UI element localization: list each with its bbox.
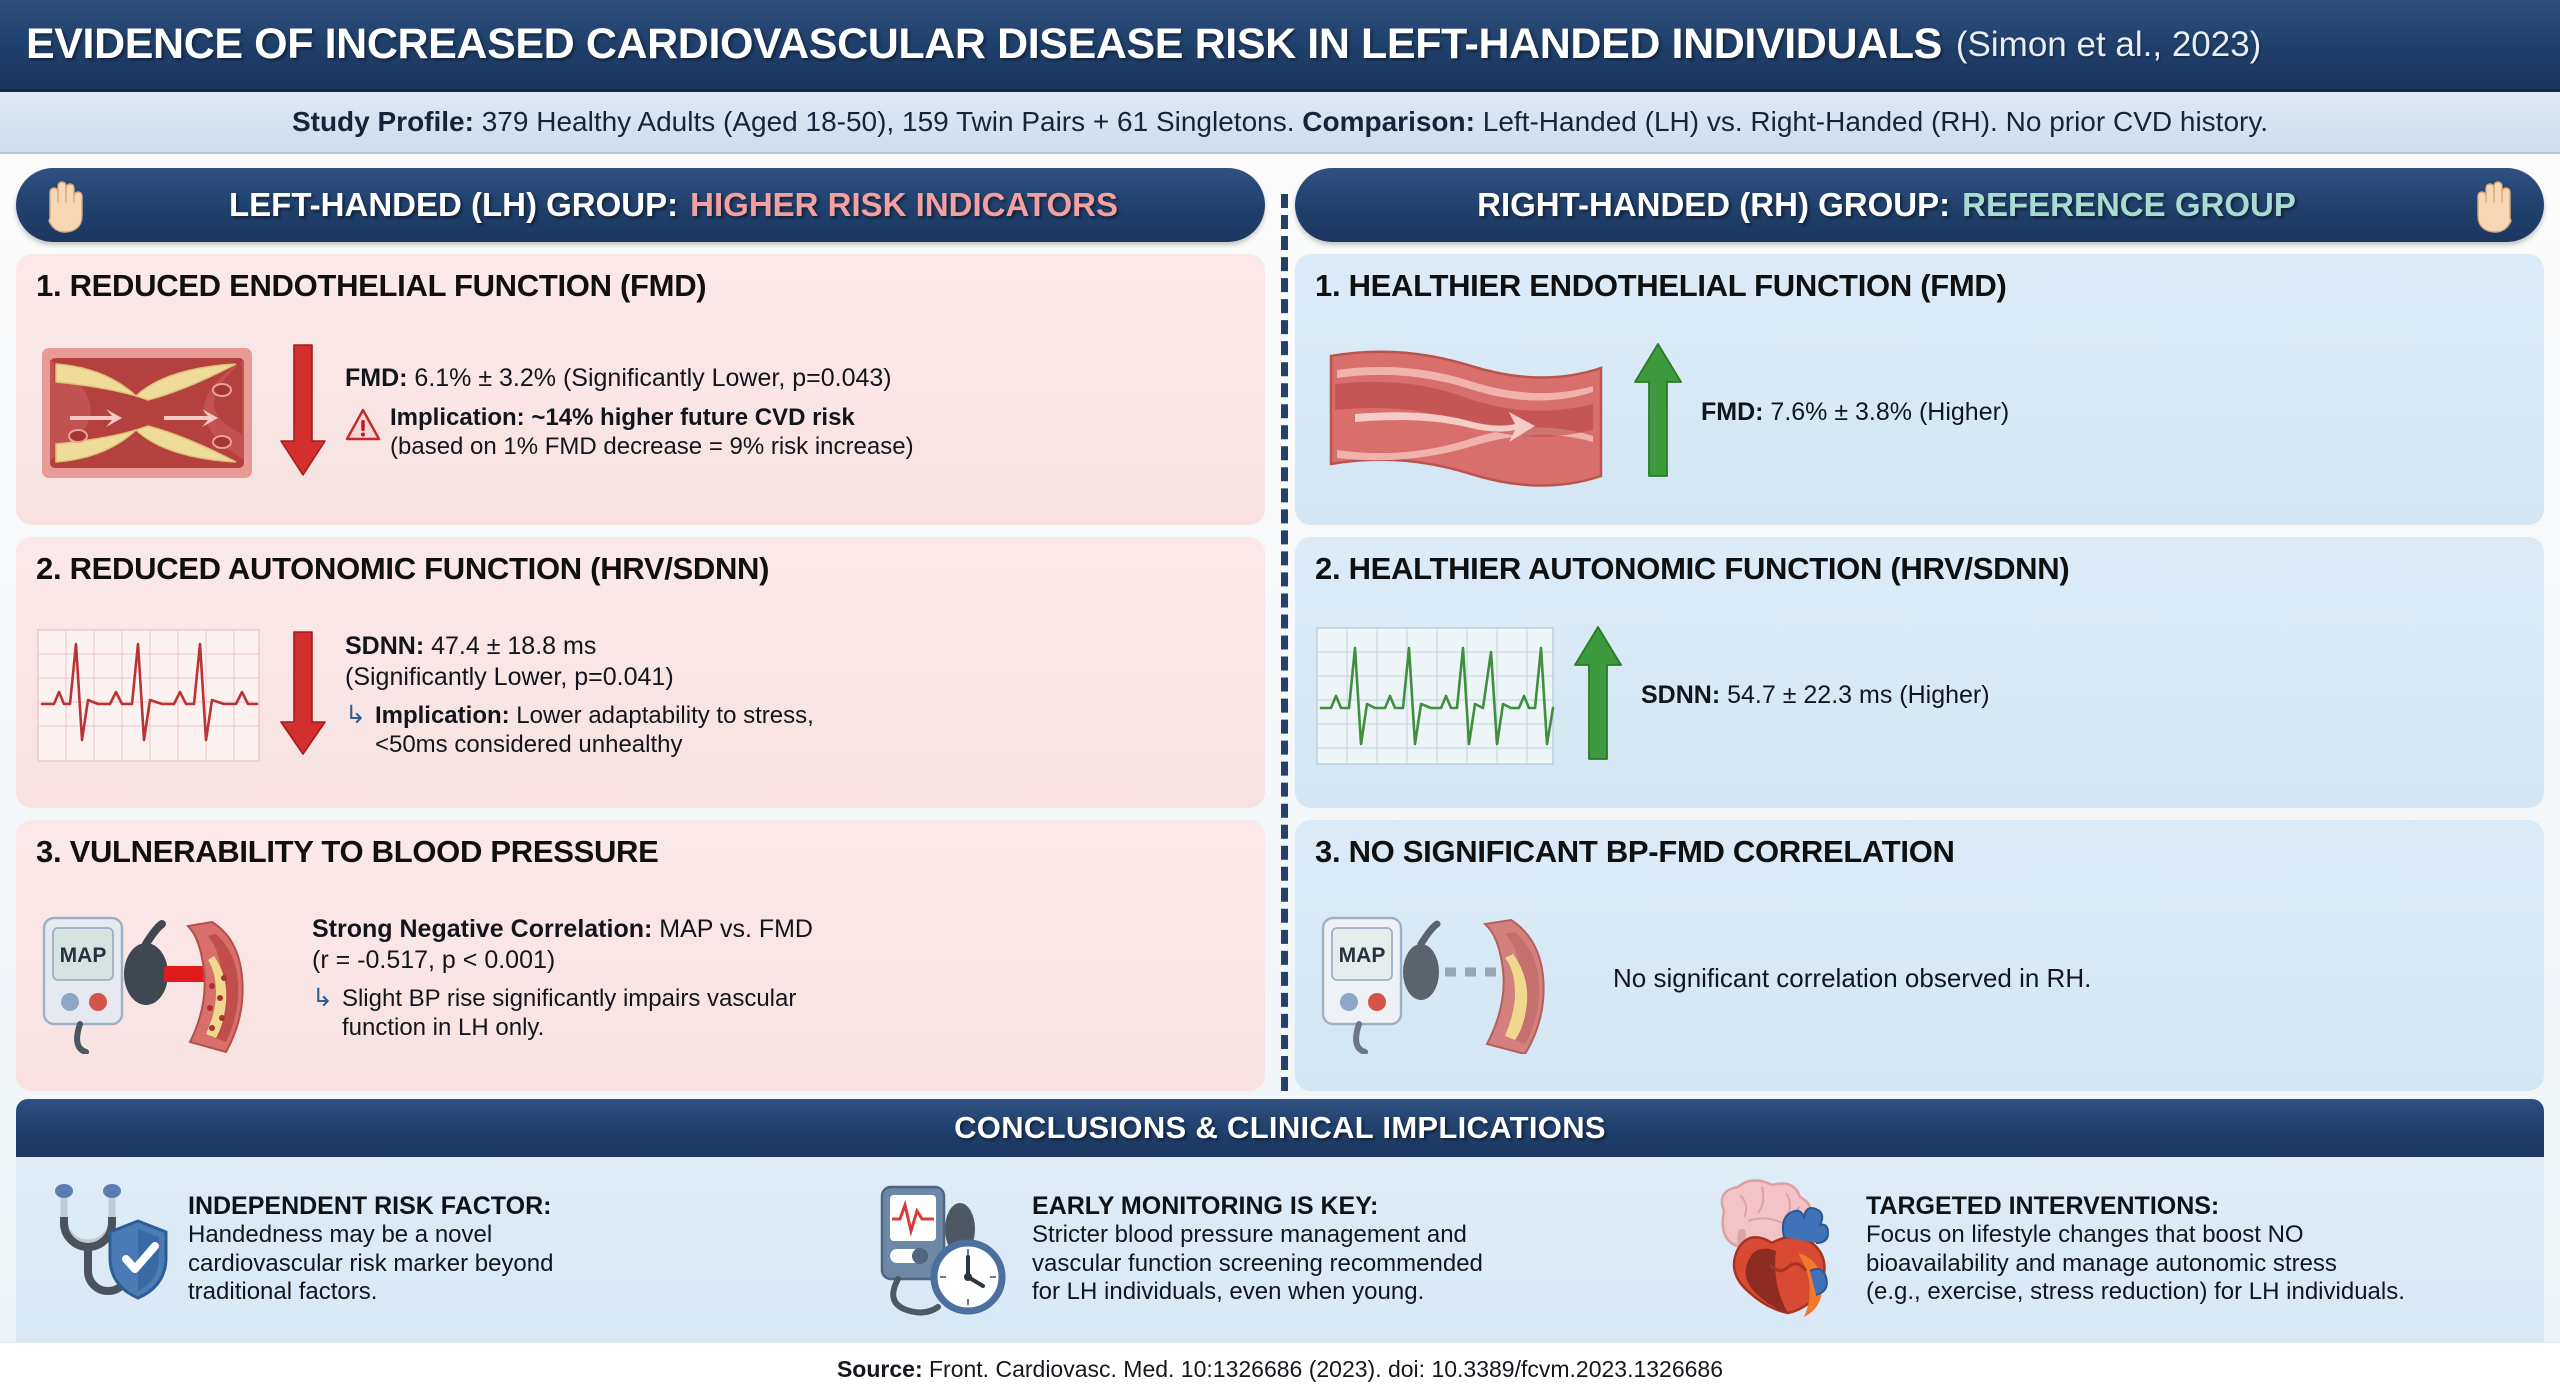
lh-fmd-impl-note: (based on 1% FMD decrease = 9% risk incr… xyxy=(390,433,914,462)
conclusion-3-line2: bioavailability and manage autonomic str… xyxy=(1866,1250,2405,1279)
healthy-open-artery-illustration xyxy=(1315,338,1615,488)
lh-sdnn-impl-note: <50ms considered unhealthy xyxy=(375,731,814,760)
up-arrow-icon xyxy=(1631,340,1685,485)
conclusion-1-line2: cardiovascular risk marker beyond xyxy=(188,1250,553,1279)
rh-card-1-body: FMD: 7.6% ± 3.8% (Higher) xyxy=(1315,310,2524,515)
lh-group-header: LEFT-HANDED (LH) GROUP: HIGHER RISK INDI… xyxy=(16,168,1265,242)
sub-arrow-icon: ↳ xyxy=(345,702,366,730)
rh-card-3-title: 3. NO SIGNIFICANT BP-FMD CORRELATION xyxy=(1315,834,2524,870)
page-title: EVIDENCE OF INCREASED CARDIOVASCULAR DIS… xyxy=(26,20,1942,69)
lh-card-2-body: SDNN: 47.4 ± 18.8 ms (Significantly Lowe… xyxy=(36,593,1245,798)
lh-sdnn-implication-row: ↳ Implication: Lower adaptability to str… xyxy=(345,702,1245,760)
rh-card-3-text: No significant correlation observed in R… xyxy=(1613,963,2524,994)
lh-corr-stat-label: Strong Negative Correlation: xyxy=(312,915,652,943)
conclusion-1-heading: INDEPENDENT RISK FACTOR: xyxy=(188,1192,553,1221)
warning-triangle-icon xyxy=(345,408,381,442)
lh-corr-impl-value: Slight BP rise significantly impairs vas… xyxy=(342,985,796,1014)
conclusion-1-line1: Handedness may be a novel xyxy=(188,1221,553,1250)
lh-card-3-title: 3. VULNERABILITY TO BLOOD PRESSURE xyxy=(36,834,1245,870)
lh-corr-stat: Strong Negative Correlation: MAP vs. FMD xyxy=(312,914,1245,945)
lh-sdnn-impl-label: Implication: xyxy=(375,702,510,729)
conclusion-3-line3: (e.g., exercise, stress reduction) for L… xyxy=(1866,1278,2405,1307)
lh-corr-impl-note: function in LH only. xyxy=(342,1014,796,1043)
conclusion-item-early-monitoring: EARLY MONITORING IS KEY: Stricter blood … xyxy=(868,1177,1692,1322)
rh-card-hrv: 2. HEALTHIER AUTONOMIC FUNCTION (HRV/SDN… xyxy=(1295,537,2544,808)
rh-sdnn-stat-value: 54.7 ± 22.3 ms (Higher) xyxy=(1720,681,1989,709)
rh-header-text-group: RIGHT-HANDED (RH) GROUP: REFERENCE GROUP xyxy=(1319,186,2454,224)
lh-sdnn-stat-note: (Significantly Lower, p=0.041) xyxy=(345,662,1245,693)
lh-card-hrv: 2. REDUCED AUTONOMIC FUNCTION (HRV/SDNN) xyxy=(16,537,1265,808)
lh-card-1-title: 1. REDUCED ENDOTHELIAL FUNCTION (FMD) xyxy=(36,268,1245,304)
lh-fmd-implication-text: Implication: ~14% higher future CVD risk… xyxy=(390,404,914,462)
left-handed-column: LEFT-HANDED (LH) GROUP: HIGHER RISK INDI… xyxy=(16,168,1265,1091)
rh-fmd-stat-value: 7.6% ± 3.8% (Higher) xyxy=(1763,398,2009,426)
study-profile-text: Study Profile: 379 Healthy Adults (Aged … xyxy=(292,106,2268,138)
conclusions-banner-label: CONCLUSIONS & CLINICAL IMPLICATIONS xyxy=(954,1110,1606,1146)
brain-heart-icon xyxy=(1702,1177,1852,1322)
lh-card-2-title: 2. REDUCED AUTONOMIC FUNCTION (HRV/SDNN) xyxy=(36,551,1245,587)
conclusion-2-line1: Stricter blood pressure management and xyxy=(1032,1221,1483,1250)
comparison-value: Left-Handed (LH) vs. Right-Handed (RH). … xyxy=(1475,106,2268,137)
source-label: Source: xyxy=(837,1356,923,1382)
lh-fmd-stat-value: 6.1% ± 3.2% (Significantly Lower, p=0.04… xyxy=(407,364,891,392)
rh-group-header: RIGHT-HANDED (RH) GROUP: REFERENCE GROUP xyxy=(1295,168,2544,242)
raised-hand-icon xyxy=(40,176,92,234)
rh-no-correlation-note: No significant correlation observed in R… xyxy=(1613,963,2524,994)
source-text: Source: Front. Cardiovasc. Med. 10:13266… xyxy=(837,1356,1723,1383)
lh-header-text-group: LEFT-HANDED (LH) GROUP: HIGHER RISK INDI… xyxy=(106,186,1241,224)
lh-sdnn-stat: SDNN: 47.4 ± 18.8 ms xyxy=(345,631,1245,662)
conclusion-2-line2: vascular function screening recommended xyxy=(1032,1250,1483,1279)
lh-card-1-text: FMD: 6.1% ± 3.2% (Significantly Lower, p… xyxy=(345,363,1245,461)
conclusion-1-line3: traditional factors. xyxy=(188,1278,553,1307)
study-profile-label: Study Profile: xyxy=(292,106,474,137)
comparison-columns: LEFT-HANDED (LH) GROUP: HIGHER RISK INDI… xyxy=(0,154,2560,1097)
lh-sdnn-implication-text: Implication: Lower adaptability to stres… xyxy=(375,702,814,760)
lh-corr-implication-text: Slight BP rise significantly impairs vas… xyxy=(342,985,796,1043)
bp-monitor-clock-icon xyxy=(868,1177,1018,1322)
lh-sdnn-impl-value: Lower adaptability to stress, xyxy=(510,702,814,729)
rh-card-1-text: FMD: 7.6% ± 3.8% (Higher) xyxy=(1701,397,2524,428)
lh-corr-implication-row: ↳ Slight BP rise significantly impairs v… xyxy=(312,985,1245,1043)
rh-card-1-title: 1. HEALTHIER ENDOTHELIAL FUNCTION (FMD) xyxy=(1315,268,2524,304)
lh-card-1-body: FMD: 6.1% ± 3.2% (Significantly Lower, p… xyxy=(36,310,1245,515)
rh-card-bp: 3. NO SIGNIFICANT BP-FMD CORRELATION MAP xyxy=(1295,820,2544,1091)
lh-fmd-impl-label: Implication: xyxy=(390,404,525,431)
conclusions-body: INDEPENDENT RISK FACTOR: Handedness may … xyxy=(16,1157,2544,1342)
bp-monitor-and-artery-illustration: MAP xyxy=(36,904,296,1054)
lh-card-3-body: MAP xyxy=(36,876,1245,1081)
rh-group-label: RIGHT-HANDED (RH) GROUP: xyxy=(1477,186,1950,224)
lh-corr-stat-value: MAP vs. FMD xyxy=(652,915,813,943)
sub-arrow-icon: ↳ xyxy=(312,985,333,1013)
svg-text:MAP: MAP xyxy=(60,944,107,967)
right-handed-column: RIGHT-HANDED (RH) GROUP: REFERENCE GROUP… xyxy=(1295,168,2544,1091)
comparison-label: Comparison: xyxy=(1302,106,1475,137)
lh-fmd-implication-row: Implication: ~14% higher future CVD risk… xyxy=(345,404,1245,462)
infographic-poster: EVIDENCE OF INCREASED CARDIOVASCULAR DIS… xyxy=(0,0,2560,1396)
rh-sdnn-stat: SDNN: 54.7 ± 22.3 ms (Higher) xyxy=(1641,680,2524,711)
stethoscope-shield-check-icon xyxy=(34,1177,174,1322)
down-arrow-icon xyxy=(277,341,329,484)
rh-card-3-body: MAP No significant xyxy=(1315,876,2524,1081)
conclusion-3-line1: Focus on lifestyle changes that boost NO xyxy=(1866,1221,2405,1250)
lh-group-accent: HIGHER RISK INDICATORS xyxy=(690,186,1118,224)
source-value: Front. Cardiovasc. Med. 10:1326686 (2023… xyxy=(923,1356,1723,1382)
study-profile-value: 379 Healthy Adults (Aged 18-50), 159 Twi… xyxy=(474,106,1302,137)
raised-hand-icon xyxy=(2468,176,2520,234)
conclusions-banner: CONCLUSIONS & CLINICAL IMPLICATIONS xyxy=(16,1099,2544,1157)
conclusion-item-independent-risk: INDEPENDENT RISK FACTOR: Handedness may … xyxy=(34,1177,858,1322)
rh-card-2-title: 2. HEALTHIER AUTONOMIC FUNCTION (HRV/SDN… xyxy=(1315,551,2524,587)
lh-corr-stat-note: (r = -0.517, p < 0.001) xyxy=(312,945,1245,976)
down-arrow-icon xyxy=(277,628,329,763)
lh-fmd-stat-label: FMD: xyxy=(345,364,407,392)
rh-group-accent: REFERENCE GROUP xyxy=(1962,186,2296,224)
conclusion-2-text: EARLY MONITORING IS KEY: Stricter blood … xyxy=(1032,1192,1483,1307)
conclusion-2-heading: EARLY MONITORING IS KEY: xyxy=(1032,1192,1483,1221)
lh-sdnn-stat-value: 47.4 ± 18.8 ms xyxy=(424,632,596,660)
title-citation: (Simon et al., 2023) xyxy=(1956,25,2261,65)
rh-card-fmd: 1. HEALTHIER ENDOTHELIAL FUNCTION (FMD) xyxy=(1295,254,2544,525)
svg-text:MAP: MAP xyxy=(1339,944,1386,967)
lh-card-fmd: 1. REDUCED ENDOTHELIAL FUNCTION (FMD) xyxy=(16,254,1265,525)
ecg-waveform-red-illustration xyxy=(36,628,261,763)
rh-card-2-text: SDNN: 54.7 ± 22.3 ms (Higher) xyxy=(1641,680,2524,711)
conclusion-2-line3: for LH individuals, even when young. xyxy=(1032,1278,1483,1307)
conclusion-3-text: TARGETED INTERVENTIONS: Focus on lifesty… xyxy=(1866,1192,2405,1307)
narrowed-artery-plaque-illustration xyxy=(36,338,261,488)
rh-fmd-stat-label: FMD: xyxy=(1701,398,1763,426)
lh-card-3-text: Strong Negative Correlation: MAP vs. FMD… xyxy=(312,914,1245,1043)
conclusion-item-targeted-interventions: TARGETED INTERVENTIONS: Focus on lifesty… xyxy=(1702,1177,2526,1322)
conclusion-3-heading: TARGETED INTERVENTIONS: xyxy=(1866,1192,2405,1221)
lh-sdnn-stat-label: SDNN: xyxy=(345,632,424,660)
conclusion-1-text: INDEPENDENT RISK FACTOR: Handedness may … xyxy=(188,1192,553,1307)
poster-title-bar: EVIDENCE OF INCREASED CARDIOVASCULAR DIS… xyxy=(0,0,2560,92)
source-footer: Source: Front. Cardiovasc. Med. 10:13266… xyxy=(0,1342,2560,1396)
rh-card-2-body: SDNN: 54.7 ± 22.3 ms (Higher) xyxy=(1315,593,2524,798)
up-arrow-icon xyxy=(1571,623,1625,768)
bp-monitor-dashed-link-artery-illustration: MAP xyxy=(1315,904,1595,1054)
rh-sdnn-stat-label: SDNN: xyxy=(1641,681,1720,709)
ecg-waveform-green-illustration xyxy=(1315,626,1555,766)
lh-fmd-impl-value: ~14% higher future CVD risk xyxy=(525,404,855,431)
lh-card-bp: 3. VULNERABILITY TO BLOOD PRESSURE MAP xyxy=(16,820,1265,1091)
lh-group-label: LEFT-HANDED (LH) GROUP: xyxy=(229,186,678,224)
study-profile-bar: Study Profile: 379 Healthy Adults (Aged … xyxy=(0,92,2560,154)
rh-fmd-stat: FMD: 7.6% ± 3.8% (Higher) xyxy=(1701,397,2524,428)
lh-card-2-text: SDNN: 47.4 ± 18.8 ms (Significantly Lowe… xyxy=(345,631,1245,760)
lh-fmd-stat: FMD: 6.1% ± 3.2% (Significantly Lower, p… xyxy=(345,363,1245,394)
column-divider xyxy=(1281,194,1288,1091)
